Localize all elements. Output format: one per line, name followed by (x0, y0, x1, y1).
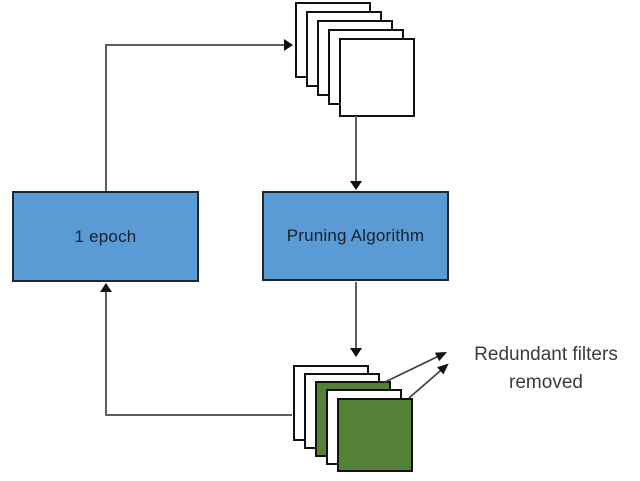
pruning-label-line-2: Algorithm (351, 226, 425, 245)
filter-card-front-1 (339, 38, 415, 117)
arrowhead-to-pruning-icon (350, 181, 362, 190)
callout-label-line-2: removed (452, 369, 640, 397)
edge-pruned-filters-to-epoch-horizontal (105, 414, 292, 416)
callout-label: Redundant filters removed (452, 341, 640, 396)
pruning-label-line-1: Pruning (287, 226, 347, 245)
callout-arrow-upper-icon (383, 353, 445, 383)
arrowhead-to-pruned-filters-icon (350, 348, 362, 357)
arrowhead-to-epoch-icon (100, 283, 112, 292)
arrowhead-to-filters-icon (284, 39, 293, 51)
filter-stack-white (295, 2, 415, 120)
edge-pruning-to-pruned-filters (355, 282, 357, 350)
epoch-box[interactable]: 1 epoch (12, 191, 199, 282)
pruned-card-front-1 (337, 398, 413, 472)
callout-arrow-lower-icon (409, 365, 447, 398)
epoch-box-label: 1 epoch (69, 226, 143, 247)
diagram-canvas: 1 epoch Pruning Algorithm Redundant filt… (0, 0, 640, 481)
edge-filters-to-pruning (355, 116, 357, 183)
edge-epoch-to-filters-vertical (105, 45, 107, 192)
pruning-algorithm-box-label: Pruning Algorithm (281, 225, 431, 246)
callout-label-line-1: Redundant filters (452, 341, 640, 369)
edge-pruned-filters-to-epoch-vertical (105, 291, 107, 415)
edge-epoch-to-filters-horizontal (105, 44, 287, 46)
pruning-algorithm-box[interactable]: Pruning Algorithm (262, 191, 449, 281)
